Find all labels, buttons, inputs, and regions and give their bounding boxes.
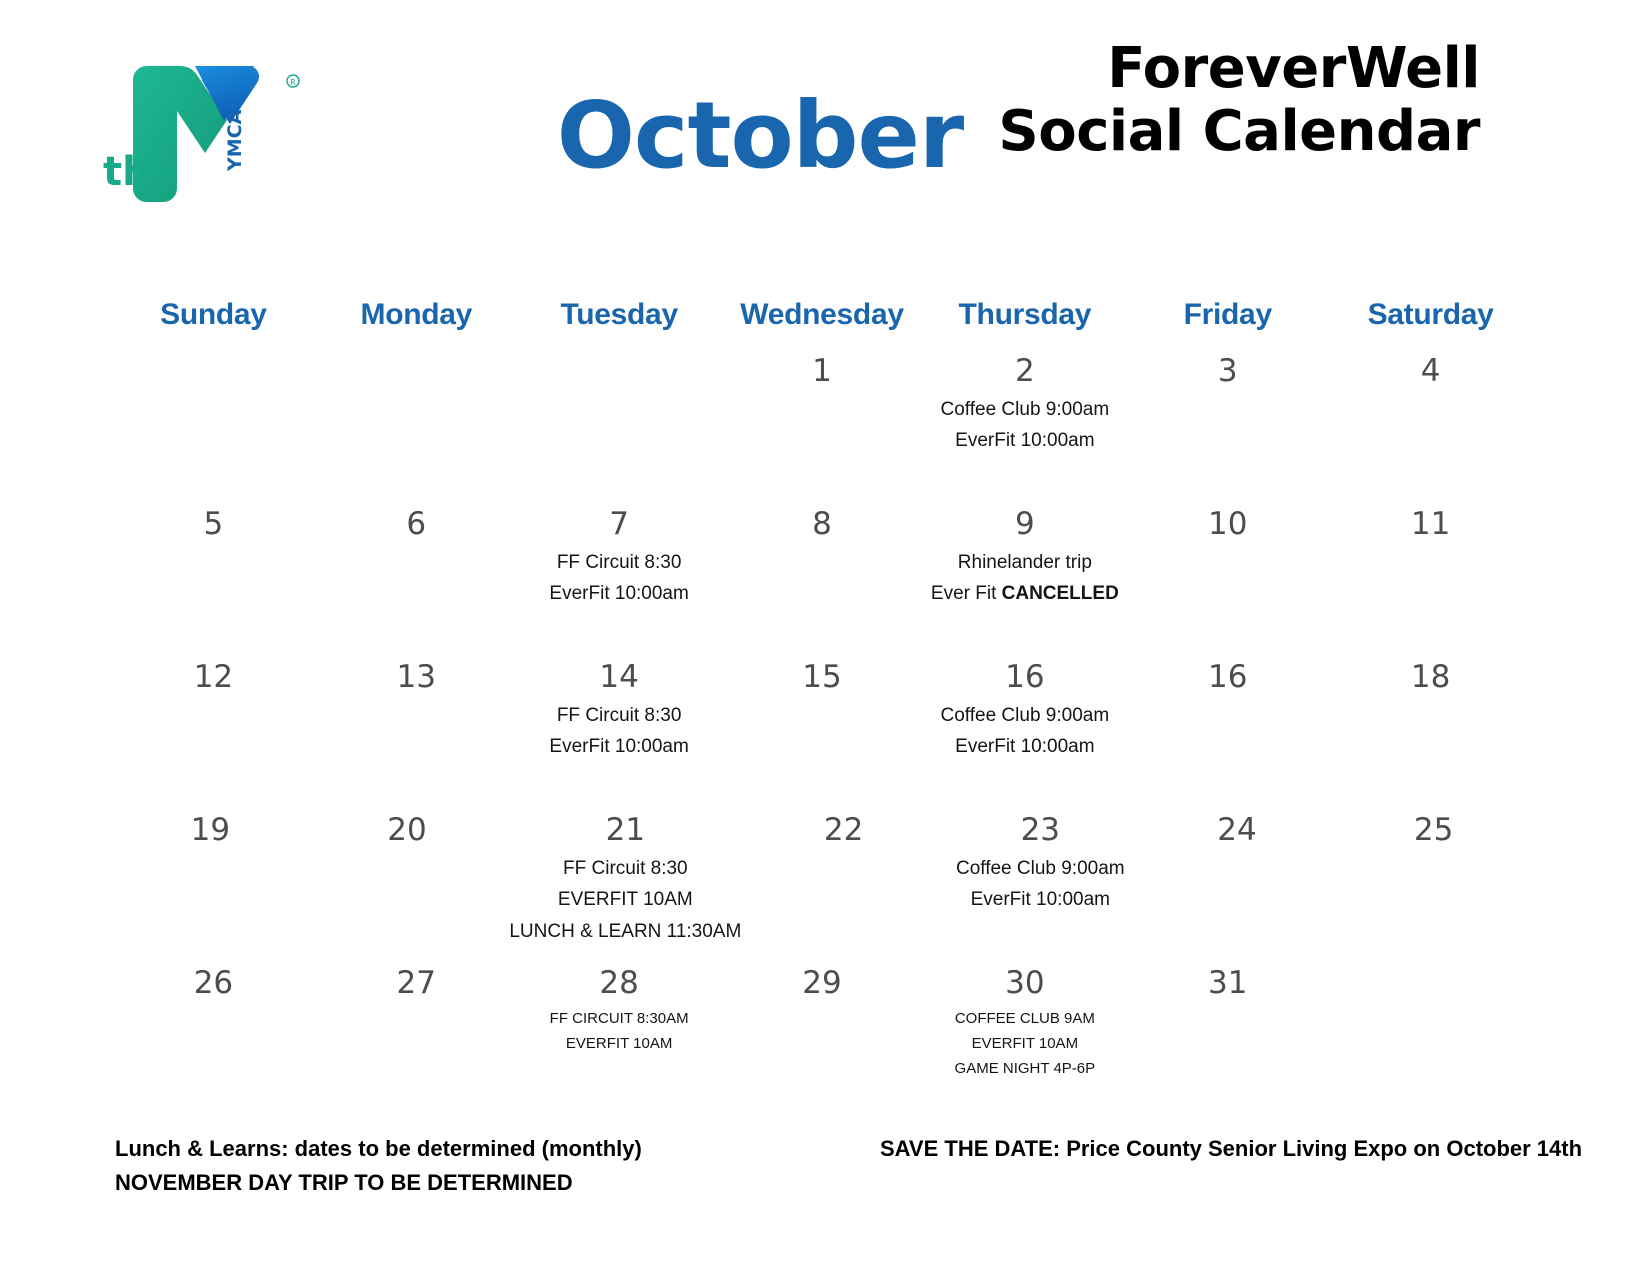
calendar-day-cell[interactable]: 6 [315,503,518,656]
day-number: 6 [319,505,514,544]
calendar-week-row: 121314FF Circuit 8:30EverFit 10:00am1516… [112,656,1532,809]
day-number: 10 [1130,505,1325,544]
day-events: Coffee Club 9:00amEverFit 10:00am [927,395,1122,456]
day-number: 23 [946,811,1135,850]
calendar-day-cell[interactable]: 9Rhinelander tripEver Fit CANCELLED [923,503,1126,656]
day-number: 29 [725,964,920,1003]
calendar-day-cell[interactable]: 22 [745,809,942,962]
day-number: 19 [116,811,305,850]
day-events: COFFEE CLUB 9AMEVERFIT 10AMGAME NIGHT 4P… [927,1007,1122,1081]
calendar-day-cell[interactable]: 14FF Circuit 8:30EverFit 10:00am [518,656,721,809]
calendar-empty-cell [315,350,518,503]
day-number: 7 [522,505,717,544]
day-number: 18 [1333,658,1528,697]
calendar-day-cell[interactable]: 20 [309,809,506,962]
calendar-title: ForeverWell Social Calendar [998,38,1480,163]
calendar-title-line2: Social Calendar [998,101,1480,164]
day-of-week-header: Friday [1126,298,1329,350]
ymca-logo-icon: the YMCA R [95,45,310,230]
calendar-day-cell[interactable]: 29 [721,962,924,1115]
day-number: 8 [725,505,920,544]
day-number: 12 [116,658,311,697]
calendar-week-row: 192021FF Circuit 8:30EVERFIT 10AMLUNCH &… [112,809,1532,962]
logo-ymca-text: YMCA [224,109,246,172]
event-item[interactable]: GAME NIGHT 4P-6P [955,1057,1096,1080]
calendar-day-cell[interactable]: 13 [315,656,518,809]
day-number: 5 [116,505,311,544]
day-of-week-header-row: SundayMondayTuesdayWednesdayThursdayFrid… [112,298,1532,350]
calendar-empty-cell [1329,962,1532,1115]
event-item[interactable]: EVERFIT 10AM [566,1032,672,1055]
calendar-day-cell[interactable]: 25 [1335,809,1532,962]
calendar-empty-cell [518,350,721,503]
calendar-day-cell[interactable]: 8 [721,503,924,656]
day-of-week-header: Wednesday [721,298,924,350]
footer-notes-right: SAVE THE DATE: Price County Senior Livin… [880,1132,1582,1166]
calendar-weeks: 12Coffee Club 9:00amEverFit 10:00am34567… [112,350,1532,1115]
day-number: 27 [319,964,514,1003]
day-number: 15 [725,658,920,697]
footer-november-trip-note: NOVEMBER DAY TRIP TO BE DETERMINED [115,1166,642,1200]
day-events: FF Circuit 8:30EverFit 10:00am [522,701,717,762]
day-number: 4 [1333,352,1528,391]
calendar-day-cell[interactable]: 12 [112,656,315,809]
event-item[interactable]: FF CIRCUIT 8:30AM [550,1007,689,1030]
event-item[interactable]: Coffee Club 9:00am [941,395,1110,424]
calendar-day-cell[interactable]: 16 [1126,656,1329,809]
calendar-page: the YMCA R October ForeverWell Social Ca… [0,0,1650,1275]
event-item[interactable]: Rhinelander trip [958,548,1092,577]
day-number: 24 [1143,811,1332,850]
calendar-empty-cell [112,350,315,503]
calendar-grid: SundayMondayTuesdayWednesdayThursdayFrid… [112,298,1532,1115]
event-item[interactable]: COFFEE CLUB 9AM [955,1007,1095,1030]
day-number: 26 [116,964,311,1003]
calendar-day-cell[interactable]: 21FF Circuit 8:30EVERFIT 10AMLUNCH & LEA… [505,809,745,962]
footer-notes-left: Lunch & Learns: dates to be determined (… [115,1132,642,1200]
day-number: 22 [749,811,938,850]
calendar-day-cell[interactable]: 7FF Circuit 8:30EverFit 10:00am [518,503,721,656]
page-footer: Lunch & Learns: dates to be determined (… [0,1120,1650,1260]
day-number: 9 [927,505,1122,544]
event-item[interactable]: FF Circuit 8:30 [557,548,682,577]
calendar-week-row: 12Coffee Club 9:00amEverFit 10:00am34 [112,350,1532,503]
day-number: 2 [927,352,1122,391]
event-cancelled-badge: CANCELLED [1002,583,1119,604]
calendar-day-cell[interactable]: 3 [1126,350,1329,503]
calendar-day-cell[interactable]: 5 [112,503,315,656]
footer-lunch-learn-note: Lunch & Learns: dates to be determined (… [115,1132,642,1166]
day-events: Coffee Club 9:00amEverFit 10:00am [946,854,1135,915]
day-events: Rhinelander tripEver Fit CANCELLED [927,548,1122,609]
day-of-week-header: Saturday [1329,298,1532,350]
day-number: 21 [509,811,741,850]
day-events: FF CIRCUIT 8:30AMEVERFIT 10AM [522,1007,717,1056]
calendar-day-cell[interactable]: 1 [721,350,924,503]
day-events: FF Circuit 8:30EverFit 10:00am [522,548,717,609]
calendar-day-cell[interactable]: 19 [112,809,309,962]
day-number: 14 [522,658,717,697]
month-title: October [480,88,1040,185]
calendar-day-cell[interactable]: 26 [112,962,315,1115]
day-number: 28 [522,964,717,1003]
calendar-week-row: 262728FF CIRCUIT 8:30AMEVERFIT 10AM2930C… [112,962,1532,1115]
event-item[interactable]: EverFit 10:00am [971,885,1110,914]
day-number: 31 [1130,964,1325,1003]
day-number: 16 [927,658,1122,697]
event-item[interactable]: EVERFIT 10AM [972,1032,1078,1055]
day-number: 30 [927,964,1122,1003]
calendar-day-cell[interactable]: 28FF CIRCUIT 8:30AMEVERFIT 10AM [518,962,721,1115]
calendar-day-cell[interactable]: 4 [1329,350,1532,503]
event-item[interactable]: LUNCH & LEARN 11:30AM [509,917,741,946]
event-item[interactable]: Coffee Club 9:00am [941,701,1110,730]
day-of-week-header: Sunday [112,298,315,350]
day-of-week-header: Monday [315,298,518,350]
calendar-day-cell[interactable]: 24 [1139,809,1336,962]
day-number: 25 [1339,811,1528,850]
day-number: 16 [1130,658,1325,697]
event-item[interactable]: Ever Fit CANCELLED [931,579,1119,608]
event-item[interactable]: EverFit 10:00am [955,732,1094,761]
calendar-day-cell[interactable]: 15 [721,656,924,809]
calendar-day-cell[interactable]: 23Coffee Club 9:00amEverFit 10:00am [942,809,1139,962]
event-item[interactable]: EverFit 10:00am [549,732,688,761]
day-number: 3 [1130,352,1325,391]
event-item[interactable]: EVERFIT 10AM [558,885,693,914]
calendar-day-cell[interactable]: 27 [315,962,518,1115]
ymca-logo: the YMCA R [95,45,310,230]
day-number: 13 [319,658,514,697]
event-item[interactable]: EverFit 10:00am [955,426,1094,455]
event-item[interactable]: EverFit 10:00am [549,579,688,608]
calendar-week-row: 567FF Circuit 8:30EverFit 10:00am89Rhine… [112,503,1532,656]
page-header: the YMCA R October ForeverWell Social Ca… [0,0,1650,265]
event-item[interactable]: Coffee Club 9:00am [956,854,1125,883]
registered-mark-icon: R [290,78,296,87]
day-events: Coffee Club 9:00amEverFit 10:00am [927,701,1122,762]
calendar-day-cell[interactable]: 11 [1329,503,1532,656]
calendar-day-cell[interactable]: 18 [1329,656,1532,809]
day-number: 11 [1333,505,1528,544]
calendar-day-cell[interactable]: 30COFFEE CLUB 9AMEVERFIT 10AMGAME NIGHT … [923,962,1126,1115]
day-of-week-header: Tuesday [518,298,721,350]
calendar-title-line1: ForeverWell [998,38,1480,101]
event-item[interactable]: FF Circuit 8:30 [563,854,688,883]
calendar-day-cell[interactable]: 31 [1126,962,1329,1115]
day-events: FF Circuit 8:30EVERFIT 10AMLUNCH & LEARN… [509,854,741,946]
calendar-day-cell[interactable]: 10 [1126,503,1329,656]
day-number: 1 [725,352,920,391]
logo-the-text: the [103,149,178,195]
day-of-week-header: Thursday [923,298,1126,350]
footer-save-the-date-note: SAVE THE DATE: Price County Senior Livin… [880,1132,1582,1166]
event-item[interactable]: FF Circuit 8:30 [557,701,682,730]
calendar-day-cell[interactable]: 2Coffee Club 9:00amEverFit 10:00am [923,350,1126,503]
day-number: 20 [313,811,502,850]
calendar-day-cell[interactable]: 16Coffee Club 9:00amEverFit 10:00am [923,656,1126,809]
